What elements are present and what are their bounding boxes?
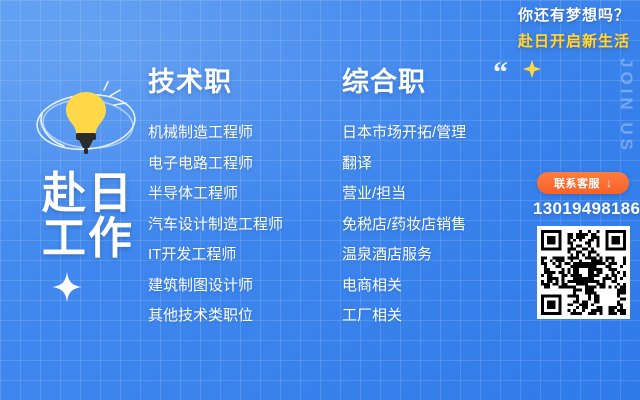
brand-block: 赴日 工作 (18, 78, 158, 262)
list-item[interactable]: 日本市场开拓/管理 (342, 121, 532, 145)
lightbulb-icon (18, 78, 158, 170)
column-general: 综合职 日本市场开拓/管理 翻译 营业/担当 免税店/药妆店销售 温泉酒店服务 … (342, 60, 532, 335)
poster-canvas: 赴日 工作 技术职 机械制造工程师 电子电路工程师 半导体工程师 汽车设计制造工… (0, 0, 640, 400)
list-item[interactable]: 免税店/药妆店销售 (342, 213, 532, 237)
list-item[interactable]: 翻译 (342, 152, 532, 176)
slogan-block: 你还有梦想吗？ 赴日开启新生活 (518, 4, 630, 51)
list-item[interactable]: 温泉酒店服务 (342, 243, 532, 267)
column-technical: 技术职 机械制造工程师 电子电路工程师 半导体工程师 汽车设计制造工程师 IT开… (148, 60, 333, 335)
contact-support-label: 联系客服 (554, 175, 600, 191)
list-item[interactable]: 电商相关 (342, 274, 532, 298)
list-item[interactable]: 电子电路工程师 (148, 152, 333, 176)
qr-code[interactable] (537, 226, 630, 319)
list-item[interactable]: 其他技术类职位 (148, 304, 333, 328)
slogan-line1: 你还有梦想吗？ (518, 4, 630, 25)
arrow-down-icon: ↓ (606, 177, 612, 189)
list-item[interactable]: 半导体工程师 (148, 182, 333, 206)
sparkle-icon (52, 272, 82, 302)
brand-title-line2: 工作 (18, 217, 158, 262)
list-item[interactable]: 机械制造工程师 (148, 121, 333, 145)
list-item[interactable]: IT开发工程师 (148, 243, 333, 267)
list-item[interactable]: 营业/担当 (342, 182, 532, 206)
brand-title: 赴日 工作 (18, 172, 158, 262)
join-us-label: JOIN US (616, 58, 636, 154)
list-item[interactable]: 汽车设计制造工程师 (148, 213, 333, 237)
quote-mark-icon: “ (493, 58, 508, 88)
star-sparkle-icon (523, 60, 541, 78)
job-list-technical: 机械制造工程师 电子电路工程师 半导体工程师 汽车设计制造工程师 IT开发工程师… (148, 121, 333, 328)
contact-support-button[interactable]: 联系客服 ↓ (537, 172, 629, 194)
qr-code-canvas (541, 230, 626, 315)
column-heading-technical: 技术职 (148, 60, 333, 99)
list-item[interactable]: 工厂相关 (342, 304, 532, 328)
brand-title-line1: 赴日 (18, 172, 158, 217)
list-item[interactable]: 建筑制图设计师 (148, 274, 333, 298)
phone-number: 13019498186 (533, 199, 633, 219)
slogan-line2: 赴日开启新生活 (518, 30, 630, 51)
job-list-general: 日本市场开拓/管理 翻译 营业/担当 免税店/药妆店销售 温泉酒店服务 电商相关… (342, 121, 532, 328)
